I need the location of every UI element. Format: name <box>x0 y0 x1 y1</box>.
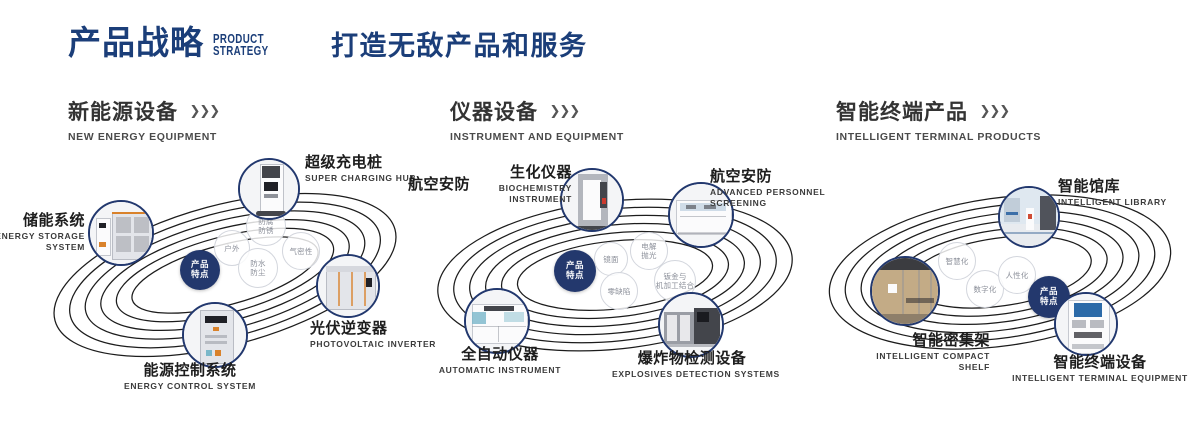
core-bubble: 产品特点 <box>180 250 220 290</box>
group-title-cn: 新能源设备 <box>68 96 178 126</box>
title-english: PRODUCT STRATEGY <box>213 33 268 57</box>
energy-control-photo <box>184 304 246 366</box>
group-title-en: NEW ENERGY EQUIPMENT <box>68 131 219 143</box>
label-en: EXPLOSIVES DETECTION SYSTEMS <box>612 369 772 380</box>
feature-bubble: 镜面 <box>594 242 628 276</box>
terminal-equipment-photo <box>1056 294 1116 354</box>
chevron-right-icon: ❯❯❯ <box>189 103 219 119</box>
label-energy-control-system: 能源控制系统 ENERGY CONTROL SYSTEM <box>80 362 300 392</box>
label-energy-storage-system: 储能系统 ENERGY STORAGESYSTEM <box>0 212 85 253</box>
label-cn: 储能系统 <box>0 212 85 229</box>
library-photo <box>1000 188 1058 246</box>
label-intelligent-library: 智能馆库 INTELLIGENT LIBRARY <box>1058 178 1198 208</box>
feature-bubble: 智慧化 <box>938 242 976 280</box>
label-en: ENERGY CONTROL SYSTEM <box>80 381 300 392</box>
node-energy-control-system[interactable] <box>182 302 248 368</box>
label-cn: 能源控制系统 <box>80 362 300 379</box>
page-title: 产品战略 PRODUCT STRATEGY <box>68 26 284 59</box>
node-photovoltaic-inverter[interactable] <box>316 254 380 318</box>
label-en: INTELLIGENT LIBRARY <box>1058 197 1198 208</box>
label-cn: 爆炸物检测设备 <box>612 350 772 367</box>
feature-bubble: 防水防尘 <box>238 248 278 288</box>
title-english-line2: STRATEGY <box>213 45 268 57</box>
chevron-right-icon: ❯❯❯ <box>549 103 579 119</box>
feature-bubble: 气密性 <box>282 232 320 270</box>
automatic-instrument-photo <box>466 290 528 352</box>
node-energy-storage-system[interactable] <box>88 200 154 266</box>
label-automatic-instrument: 全自动仪器 AUTOMATIC INSTRUMENT <box>410 346 590 376</box>
group-title-en: INTELLIGENT TERMINAL PRODUCTS <box>836 131 1041 143</box>
charging-hub-photo <box>240 160 298 218</box>
core-line1: 产品 <box>191 260 209 270</box>
label-cn: 航空安防 <box>408 176 470 193</box>
compact-shelf-photo <box>872 258 938 324</box>
diagram-intelligent-terminal: 智慧化 数字化 人性化 产品特点 智能馆库 INTELLIGENT LIBRAR… <box>810 152 1200 402</box>
label-en: AUTOMATIC INSTRUMENT <box>410 365 590 376</box>
poster-stage: 产品战略 PRODUCT STRATEGY 打造无敌产品和服务 新能源设备 ❯❯… <box>0 0 1200 422</box>
diagram-instrument: 产品特点 镜面 电解抛光 零缺陷 钣金与机加工结合 生化仪器 BIOCHEMIS… <box>420 150 810 400</box>
title-chinese: 产品战略 <box>68 26 204 59</box>
diagram-new-energy: 产品特点 户外 防腐防锈 防水防尘 气密性 储能系统 ENERGY STORAG… <box>30 150 420 400</box>
label-en: ENERGY STORAGESYSTEM <box>0 231 85 253</box>
core-line1: 产品 <box>566 261 584 271</box>
feature-bubble: 零缺陷 <box>600 272 638 310</box>
label-cn: 智能密集架 <box>790 332 990 349</box>
label-en: INTELLIGENT COMPACTSHELF <box>790 351 990 373</box>
page-subtitle: 打造无敌产品和服务 <box>331 33 588 60</box>
label-intelligent-terminal-equipment: 智能终端设备 INTELLIGENT TERMINAL EQUIPMENT <box>1000 354 1200 384</box>
group-title-en: INSTRUMENT AND EQUIPMENT <box>450 131 624 143</box>
chevron-right-icon: ❯❯❯ <box>979 103 1009 119</box>
label-explosives-detection-systems: 爆炸物检测设备 EXPLOSIVES DETECTION SYSTEMS <box>612 350 772 380</box>
label-cn: 智能终端设备 <box>1000 354 1200 371</box>
core-bubble: 产品特点 <box>554 250 596 292</box>
group-title-new-energy: 新能源设备 ❯❯❯ NEW ENERGY EQUIPMENT <box>68 96 219 143</box>
label-cn: 智能馆库 <box>1058 178 1198 195</box>
group-title-cn: 仪器设备 <box>450 96 538 126</box>
label-intelligent-compact-shelf: 智能密集架 INTELLIGENT COMPACTSHELF <box>790 332 990 373</box>
label-aviation-security-left: 航空安防 <box>408 176 470 193</box>
energy-storage-photo <box>90 202 152 264</box>
core-line2: 特点 <box>566 271 584 281</box>
group-title-cn: 智能终端产品 <box>836 96 968 126</box>
label-cn: 全自动仪器 <box>410 346 590 363</box>
node-intelligent-compact-shelf[interactable] <box>870 256 940 326</box>
explosives-detection-photo <box>660 294 722 356</box>
label-en: INTELLIGENT TERMINAL EQUIPMENT <box>1000 373 1200 384</box>
core-line2: 特点 <box>191 270 209 280</box>
group-title-intelligent-terminal: 智能终端产品 ❯❯❯ INTELLIGENT TERMINAL PRODUCTS <box>836 96 1041 143</box>
group-title-instrument: 仪器设备 ❯❯❯ INSTRUMENT AND EQUIPMENT <box>450 96 624 143</box>
node-intelligent-terminal-equipment[interactable] <box>1054 292 1118 356</box>
pv-inverter-photo <box>318 256 378 316</box>
node-intelligent-library[interactable] <box>998 186 1060 248</box>
node-super-charging-hub[interactable] <box>238 158 300 220</box>
